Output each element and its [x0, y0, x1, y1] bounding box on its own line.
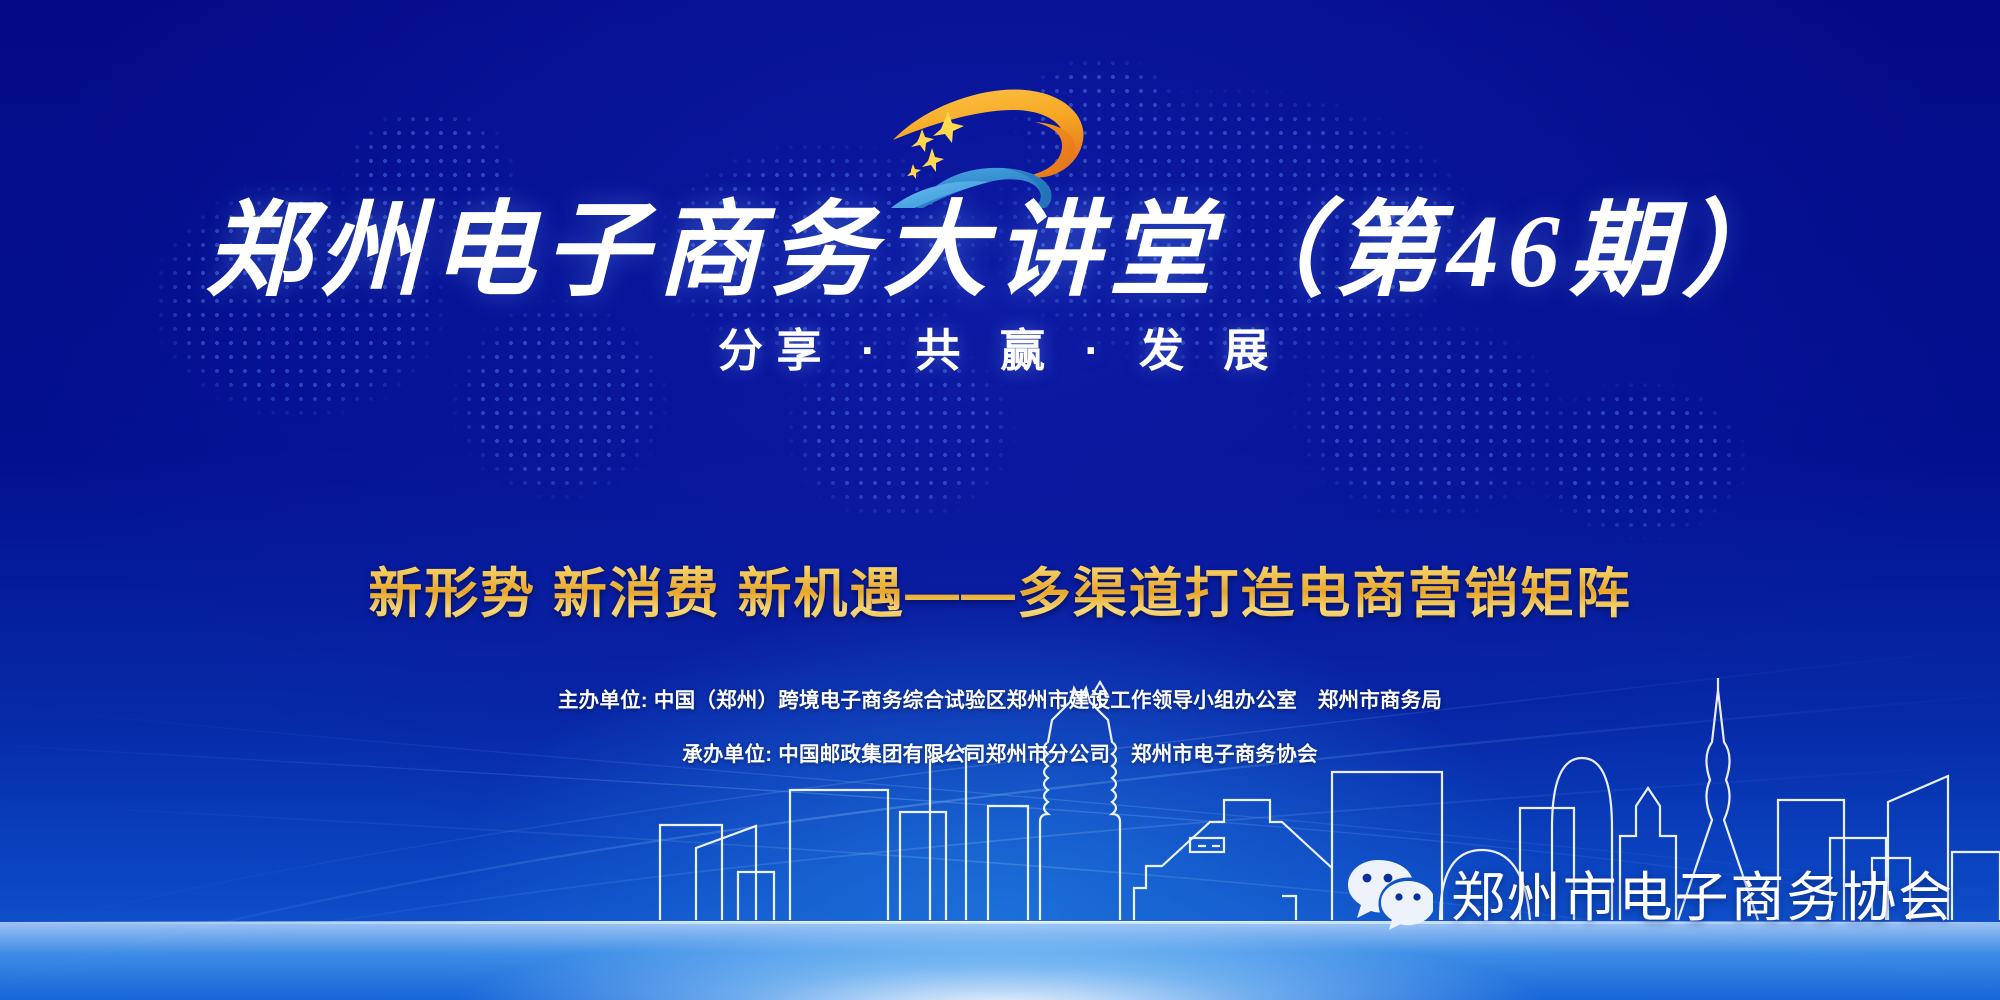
organizer-line-host: 主办单位: 中国（郑州）跨境电子商务综合试验区郑州市建设工作领导小组办公室 郑州…: [0, 683, 2000, 713]
tagline: 分享 · 共 赢 · 发 展: [0, 314, 2000, 379]
wechat-account-badge[interactable]: 郑州市电子商务协会: [1345, 853, 1954, 932]
zhengzhou-ecommerce-logo-icon: [885, 78, 1115, 208]
organizer-line-coorganizer: 承办单位: 中国邮政集团有限公司郑州市分公司 郑州市电子商务协会: [0, 737, 2000, 767]
page-title: 郑州电子商务大讲堂（第46期）: [0, 196, 2000, 308]
city-skyline: [0, 670, 2000, 1000]
wechat-icon: [1345, 856, 1433, 930]
wechat-account-name: 郑州市电子商务协会: [1451, 853, 1954, 932]
logo: [885, 78, 1115, 208]
headline: 新形势 新消费 新机遇——多渠道打造电商营销矩阵: [0, 549, 2000, 628]
event-poster: 郑州电子商务大讲堂（第46期） 分享 · 共 赢 · 发 展 新形势 新消费 新…: [0, 0, 2000, 1000]
ground-plane: [0, 922, 2000, 1000]
